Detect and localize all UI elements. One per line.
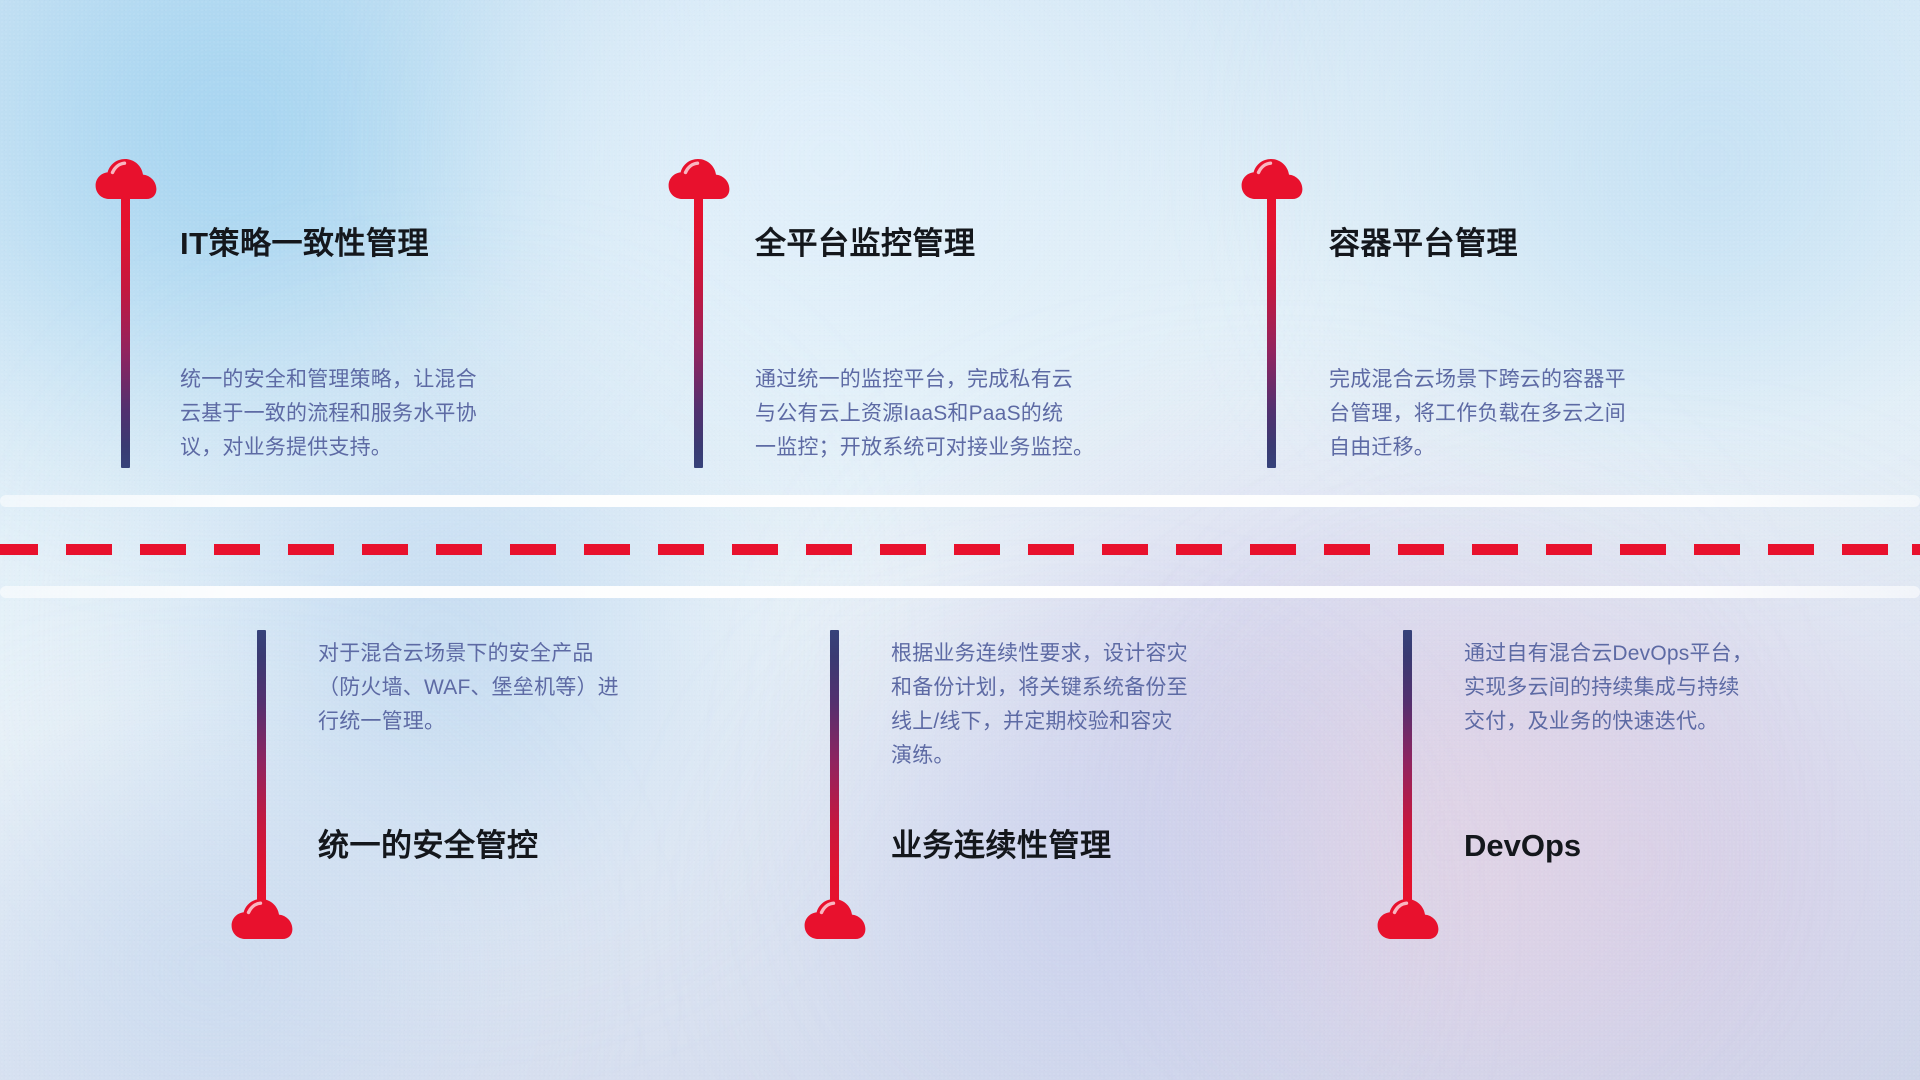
node-title: 统一的安全管控 [318,827,539,864]
connector-stem [121,196,130,468]
node-description: 通过统一的监控平台，完成私有云 与公有云上资源IaaS和PaaS的统 一监控；开… [755,363,1205,465]
connector-stem [257,630,266,904]
connector-stem [1267,196,1276,468]
node-title: IT策略一致性管理 [180,225,429,262]
node-description: 通过自有混合云DevOps平台， 实现多云间的持续集成与持续 交付，及业务的快速… [1464,637,1894,739]
axis-dashed-line [0,544,1920,555]
node-description: 对于混合云场景下的安全产品 （防火墙、WAF、堡垒机等）进 行统一管理。 [318,637,748,739]
cloud-icon [231,898,293,942]
node-description: 统一的安全和管理策略，让混合 云基于一致的流程和服务水平协 议，对业务提供支持。 [180,363,620,465]
connector-stem [830,630,839,904]
node-title: 业务连续性管理 [891,827,1112,864]
node-description: 根据业务连续性要求，设计容灾 和备份计划，将关键系统备份至 线上/线下，并定期校… [891,637,1321,773]
connector-stem [1403,630,1412,904]
axis-band-upper [0,495,1920,507]
node-title: DevOps [1464,827,1581,864]
node-description: 完成混合云场景下跨云的容器平 台管理，将工作负载在多云之间 自由迁移。 [1329,363,1759,465]
node-title: 容器平台管理 [1329,225,1518,262]
connector-stem [694,196,703,468]
infographic-canvas: IT策略一致性管理 统一的安全和管理策略，让混合 云基于一致的流程和服务水平协 … [0,0,1920,1080]
axis-band-lower [0,586,1920,598]
cloud-icon [804,898,866,942]
cloud-icon [1377,898,1439,942]
node-title: 全平台监控管理 [755,225,976,262]
